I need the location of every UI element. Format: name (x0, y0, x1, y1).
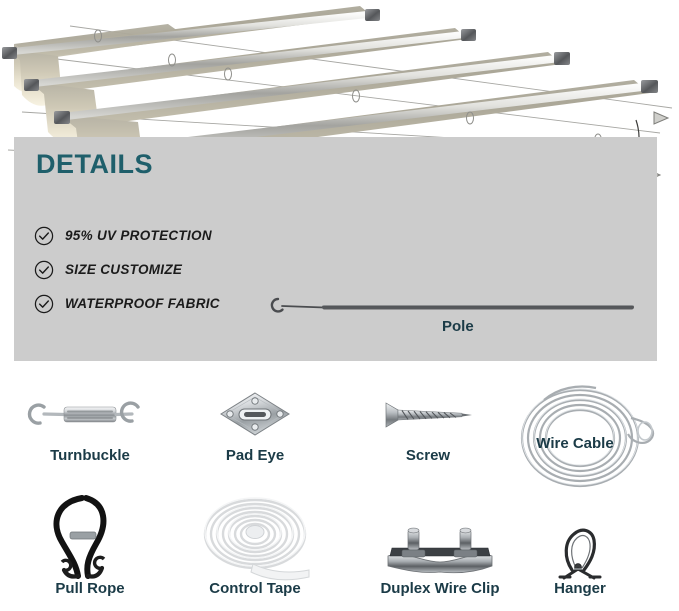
pull-rope-icon (20, 492, 160, 584)
accessory-wire-cable: Wire Cable (500, 382, 670, 492)
accessory-label: Pull Rope (20, 580, 160, 597)
pole-item: Pole (262, 285, 642, 347)
feature-list: 95% UV PROTECTION SIZE CUSTOMIZE WATERPR… (34, 221, 220, 323)
accessory-label: Pad Eye (185, 447, 325, 464)
accessory-label: Wire Cable (490, 435, 660, 452)
feature-label: 95% UV PROTECTION (65, 228, 212, 243)
accessory-pad-eye: Pad Eye (185, 385, 325, 475)
accessory-duplex-wire-clip: Duplex Wire Clip (370, 522, 510, 602)
check-circle-icon (34, 294, 54, 314)
feature-label: SIZE CUSTOMIZE (65, 262, 182, 277)
feature-label: WATERPROOF FABRIC (65, 296, 220, 311)
pad-eye-icon (185, 385, 325, 445)
hanger-clip-icon (520, 522, 640, 584)
accessory-hanger: Hanger (520, 522, 640, 602)
duplex-wire-clip-icon (370, 522, 510, 584)
accessory-label: Turnbuckle (20, 447, 160, 464)
accessory-turnbuckle: Turnbuckle (20, 385, 160, 475)
turnbuckle-icon (20, 385, 160, 445)
check-circle-icon (34, 260, 54, 280)
page-title: DETAILS (36, 149, 153, 180)
feature-item-size-customize: SIZE CUSTOMIZE (34, 255, 220, 284)
accessory-label: Hanger (520, 580, 640, 597)
product-infographic: DETAILS 95% UV PROTECTION SIZE CUSTOMIZE (0, 0, 679, 611)
accessory-label: Control Tape (185, 580, 325, 597)
accessory-label: Screw (358, 447, 498, 464)
accessory-screw: Screw (358, 385, 498, 475)
accessory-control-tape: Control Tape (185, 492, 325, 602)
control-tape-icon (185, 492, 325, 584)
check-circle-icon (34, 226, 54, 246)
screw-icon (358, 385, 498, 445)
pole-label: Pole (442, 318, 474, 335)
feature-item-uv-protection: 95% UV PROTECTION (34, 221, 220, 250)
accessory-pull-rope: Pull Rope (20, 492, 160, 602)
feature-item-waterproof-fabric: WATERPROOF FABRIC (34, 289, 220, 318)
accessory-label: Duplex Wire Clip (370, 580, 510, 597)
